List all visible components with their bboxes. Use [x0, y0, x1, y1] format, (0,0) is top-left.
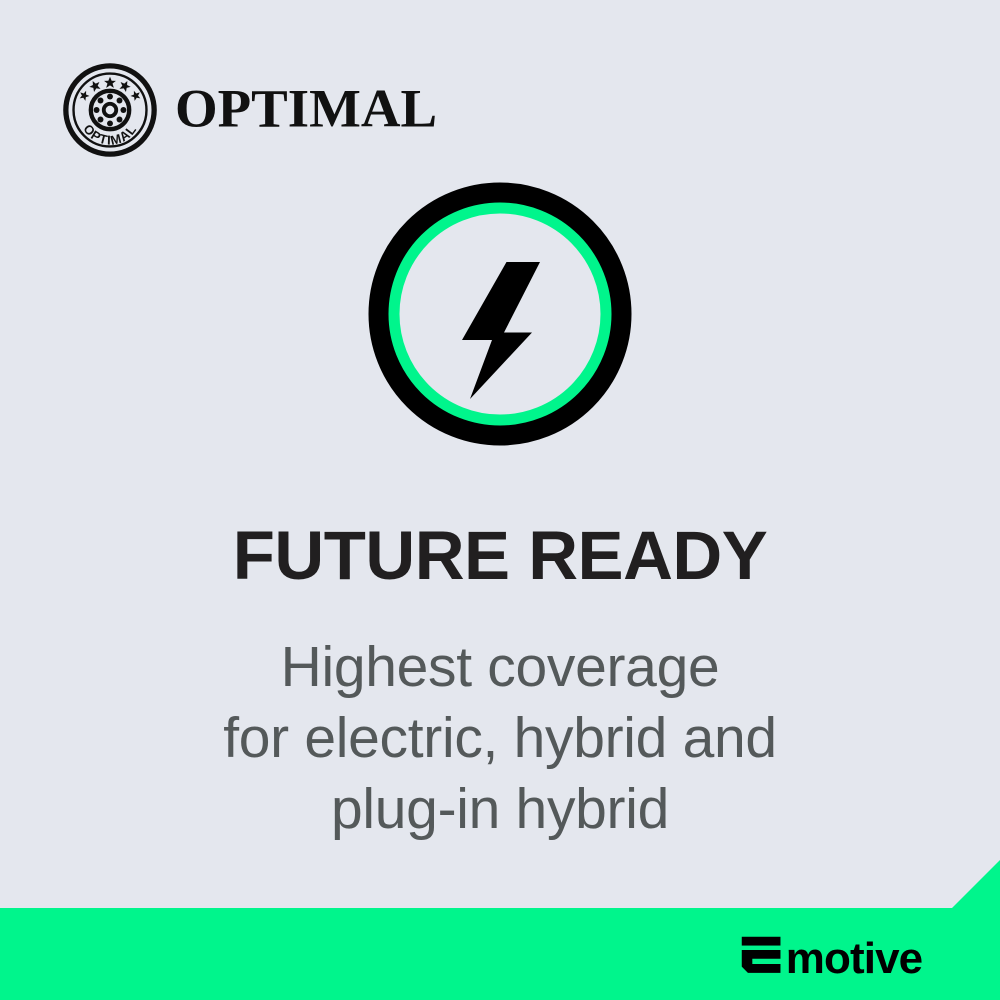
- subtitle-line-2: for electric, hybrid and: [0, 703, 1000, 774]
- lightning-bolt-glyph: [462, 262, 540, 399]
- page-title: FUTURE READY: [0, 515, 1000, 597]
- bearing-emblem-icon: [91, 91, 129, 129]
- emotive-logo: motive: [740, 935, 962, 979]
- emotive-wordmark-text: motive: [786, 935, 923, 979]
- subtitle-block: Highest coverage for electric, hybrid an…: [0, 632, 1000, 845]
- emotive-e-glyph: [742, 937, 781, 973]
- optimal-wordmark: OPTIMAL: [175, 84, 441, 136]
- optimal-badge-icon: OPTIMAL: [62, 62, 158, 158]
- subtitle-line-3: plug-in hybrid: [0, 774, 1000, 845]
- brand-logo: OPTIMAL OPTIMAL: [62, 62, 441, 158]
- poster-canvas: OPTIMAL OPTIMAL: [0, 0, 1000, 1000]
- subtitle-line-1: Highest coverage: [0, 632, 1000, 703]
- optimal-wordmark-text: OPTIMAL: [175, 84, 437, 136]
- lightning-bolt-in-circle-icon: [366, 180, 634, 448]
- footer-band: motive: [0, 855, 1000, 1000]
